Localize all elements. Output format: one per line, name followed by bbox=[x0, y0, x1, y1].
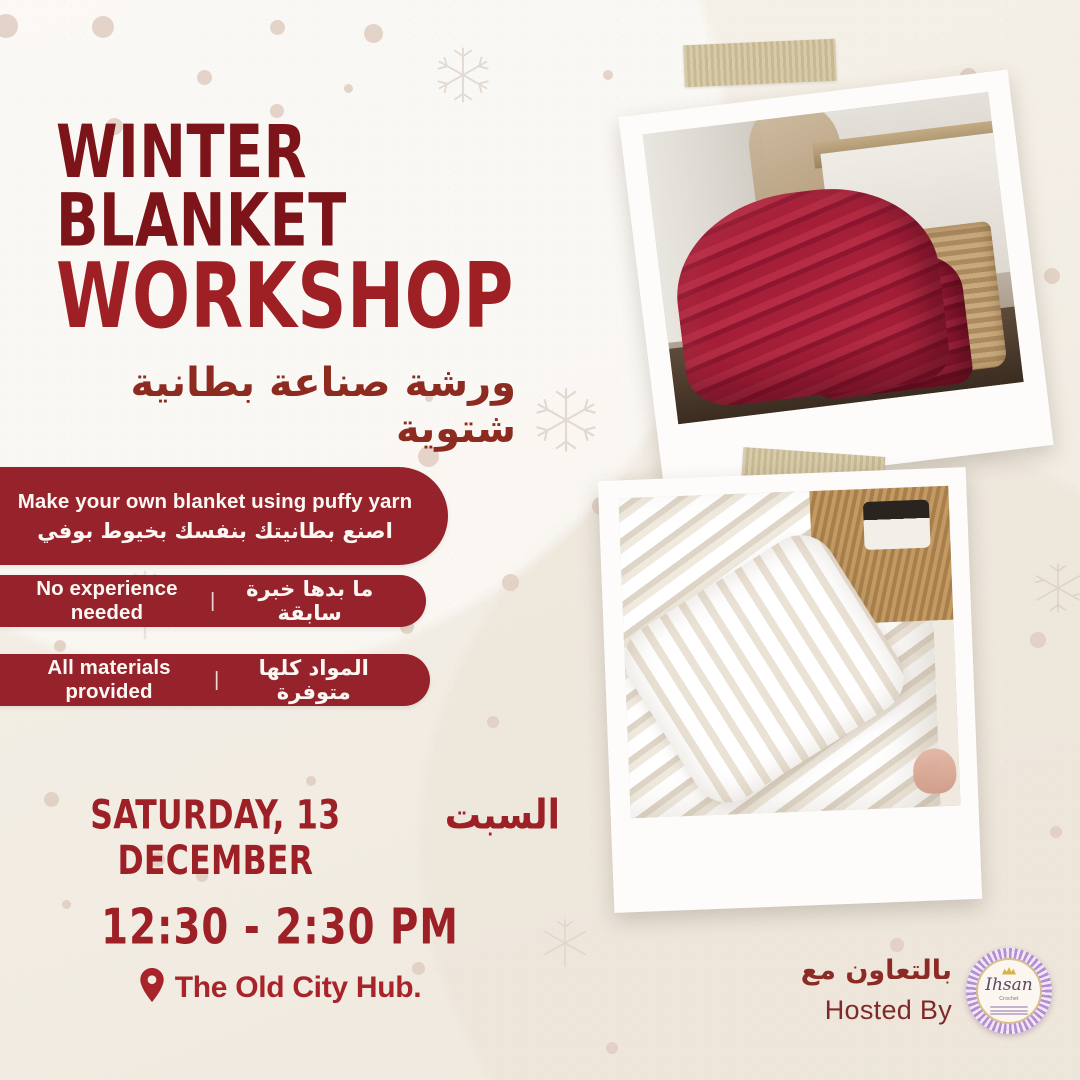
decor-dot bbox=[344, 84, 353, 93]
logo-brand-name: Ihsan bbox=[985, 977, 1032, 994]
event-date-english: SATURDAY, 13 DECEMBER bbox=[0, 793, 431, 884]
decor-dot bbox=[306, 776, 316, 786]
hosted-by-block: بالتعاون مع Hosted By Ihsan Crochet bbox=[801, 948, 1052, 1034]
poster-canvas: WINTER BLANKET WORKSHOP ورشة صناعة بطاني… bbox=[0, 0, 1080, 1080]
decor-dot bbox=[1030, 632, 1046, 648]
datetime-block: SATURDAY, 13 DECEMBER السبت 12:30 - 2:30… bbox=[0, 792, 560, 949]
crown-icon bbox=[1002, 966, 1016, 975]
banner-2-english: No experience needed bbox=[16, 577, 198, 625]
banner-2-arabic: ما بدها خبرة سابقة bbox=[227, 577, 392, 625]
decor-dot bbox=[606, 1042, 618, 1054]
decor-dot bbox=[197, 70, 212, 85]
event-time: 12:30 - 2:30 PM bbox=[0, 899, 560, 956]
washi-tape-top bbox=[683, 39, 837, 88]
banner-1-arabic: اصنع بطانيتك بنفسك بخيوط بوفي bbox=[18, 519, 413, 543]
decor-dot bbox=[364, 24, 383, 43]
event-date: SATURDAY, 13 DECEMBER السبت bbox=[0, 792, 560, 884]
hosted-by-arabic: بالتعاون مع bbox=[801, 954, 952, 988]
banner-3-separator: | bbox=[214, 668, 219, 692]
banner-2-separator: | bbox=[210, 589, 215, 613]
decor-dot bbox=[54, 640, 66, 652]
decor-dot bbox=[1044, 268, 1060, 284]
venue-block: The Old City Hub. bbox=[0, 968, 560, 1007]
hosted-by-english: Hosted By bbox=[801, 992, 952, 1028]
photo-cream-blanket bbox=[619, 486, 961, 818]
snowflake-icon bbox=[1030, 560, 1080, 616]
snowflake-icon bbox=[432, 44, 494, 106]
decor-dot bbox=[0, 14, 18, 38]
title-line-2: WORKSHOP bbox=[56, 255, 616, 338]
title-block: WINTER BLANKET WORKSHOP ورشة صناعة بطاني… bbox=[56, 118, 616, 452]
title-arabic: ورشة صناعة بطانية شتوية bbox=[56, 360, 516, 452]
decor-dot bbox=[270, 20, 285, 35]
banner-3-english: All materials provided bbox=[16, 656, 202, 704]
decor-dot bbox=[1050, 826, 1062, 838]
feature-banner-3: All materials provided | المواد كلها متو… bbox=[0, 654, 430, 706]
venue-name: The Old City Hub. bbox=[175, 971, 422, 1005]
decor-dot bbox=[502, 574, 519, 591]
decor-dot bbox=[603, 70, 613, 80]
photo-card-burgundy-blanket bbox=[618, 70, 1053, 493]
partner-logo-ihsan-crochet: Ihsan Crochet bbox=[966, 948, 1052, 1034]
banner-3-arabic: المواد كلها متوفرة bbox=[231, 656, 396, 704]
decor-dot bbox=[92, 16, 114, 38]
feature-banner-1: Make your own blanket using puffy yarn ا… bbox=[0, 467, 448, 565]
logo-script-word: Crochet bbox=[999, 996, 1019, 1002]
banner-1-english: Make your own blanket using puffy yarn bbox=[18, 490, 413, 514]
map-pin-icon bbox=[139, 968, 165, 1007]
feature-banner-2: No experience needed | ما بدها خبرة سابق… bbox=[0, 575, 426, 627]
title-line-1: WINTER BLANKET bbox=[56, 118, 616, 254]
event-date-arabic: السبت bbox=[445, 792, 560, 839]
decor-dot bbox=[487, 716, 499, 728]
photo-card-cream-blanket bbox=[598, 467, 982, 913]
photo-burgundy-blanket bbox=[643, 92, 1024, 424]
logo-social-handles bbox=[990, 1005, 1028, 1017]
